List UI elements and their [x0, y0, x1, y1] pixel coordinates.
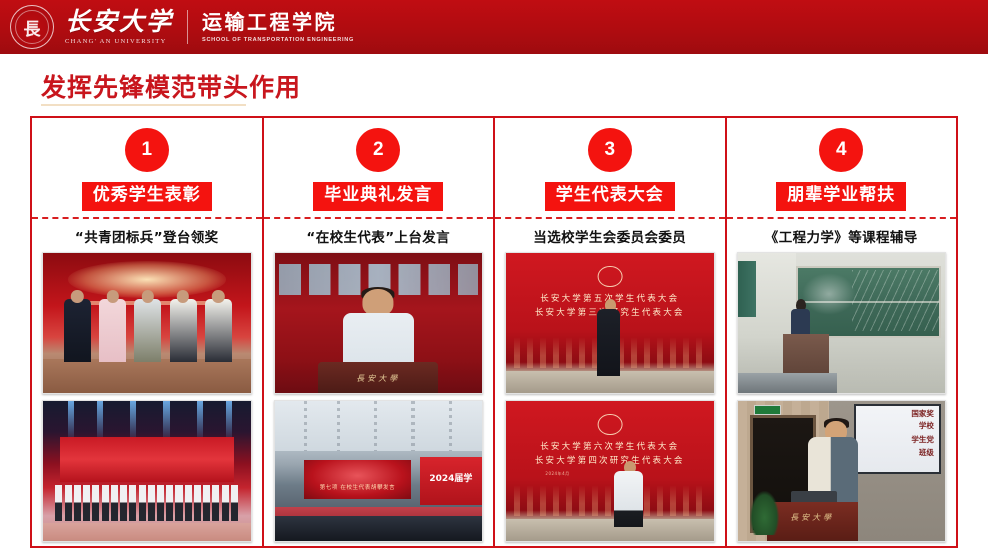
photo-main-screen: 第七项 在校生代表胡攀发言 [304, 460, 412, 499]
university-name-cn: 长安大学 [65, 9, 173, 35]
photo-person [99, 299, 126, 362]
photo-side-screen-text: 2024届学 [429, 471, 472, 484]
column-3-title-pill: 学生代表大会 [545, 182, 675, 211]
photo-group-row [55, 485, 238, 521]
photo-slide-line3: 学生党 [911, 434, 934, 445]
column-2-title-pill: 毕业典礼发言 [313, 182, 443, 211]
graduation-ceremony-photo[interactable]: 第七项 在校生代表胡攀发言 2024届学 [274, 400, 484, 542]
column-1-number-badge: 1 [125, 128, 169, 172]
photo-screen-text: 第七项 在校生代表胡攀发言 [320, 483, 396, 491]
photo-projection-slide: 国家奖 学校 学生党 班级 [854, 404, 941, 474]
photo-floor [43, 523, 251, 541]
university-name-block: 长安大学 CHANG' AN UNIVERSITY [65, 9, 173, 45]
photo-banner-line1: 长安大学第六次学生代表大会 [523, 440, 697, 452]
column-1-caption: “共青团标兵”登台领奖 [32, 219, 262, 252]
column-4-number-badge: 4 [819, 128, 863, 172]
column-2-caption: “在校生代表”上台发言 [264, 219, 494, 252]
college-name-block: 运输工程学院 SCHOOL OF TRANSPORTATION ENGINEER… [202, 11, 354, 43]
photo-lectern [783, 334, 829, 379]
title-underline [41, 104, 246, 106]
awards-ceremony-photo[interactable] [42, 252, 252, 394]
column-4-title-pill: 朋辈学业帮扶 [776, 182, 906, 211]
column-3-photos: 长安大学第五次学生代表大会 长安大学第三次研究生代表大会 长安大学第六次学生代表… [495, 252, 725, 546]
podium-speech-photo[interactable]: 長安大學 [274, 252, 484, 394]
photo-led-screen [60, 437, 234, 482]
photo-banner-date: 2024年4月 [545, 471, 569, 477]
content-frame: 1 优秀学生表彰 “共青团标兵”登台领奖 [30, 116, 958, 548]
college-name-cn: 运输工程学院 [202, 11, 354, 33]
photo-podium: 長安大學 [318, 362, 438, 393]
column-4-head: 4 朋辈学业帮扶 [727, 118, 957, 217]
column-2[interactable]: 2 毕业典礼发言 “在校生代表”上台发言 長安大學 [262, 118, 494, 546]
page-title: 发挥先锋模范带头作用 [41, 68, 301, 104]
header-brand: 長 长安大学 CHANG' AN UNIVERSITY 运输工程学院 SCHOO… [0, 5, 354, 49]
university-crest-icon: 長 [10, 5, 54, 49]
stage-group-photo[interactable] [42, 400, 252, 542]
photo-person [205, 299, 232, 362]
photo-floor [43, 359, 251, 393]
column-1[interactable]: 1 优秀学生表彰 “共青团标兵”登台领奖 [32, 118, 262, 546]
exit-sign-icon [754, 405, 781, 415]
photo-side-screen: 2024届学 [420, 457, 482, 505]
column-4-photos: 国家奖 学校 学生党 班级 長安大學 [727, 252, 957, 546]
column-2-head: 2 毕业典礼发言 [264, 118, 494, 217]
column-3-caption: 当选校学生会委员会委员 [495, 219, 725, 252]
column-1-head: 1 优秀学生表彰 [32, 118, 262, 217]
column-4[interactable]: 4 朋辈学业帮扶 《工程力学》等课程辅导 [725, 118, 957, 546]
classroom-tutoring-photo[interactable] [737, 252, 947, 394]
fifth-student-congress-photo[interactable]: 长安大学第五次学生代表大会 长安大学第三次研究生代表大会 [505, 252, 715, 394]
photo-slide-line4: 班级 [919, 447, 934, 458]
column-4-caption: 《工程力学》等课程辅导 [727, 219, 957, 252]
column-3-head: 3 学生代表大会 [495, 118, 725, 217]
photo-person [170, 299, 197, 362]
photo-slide-line1: 国家奖 [911, 408, 934, 419]
student-presentation-photo[interactable]: 国家奖 学校 学生党 班级 長安大學 [737, 400, 947, 542]
column-3[interactable]: 3 学生代表大会 当选校学生会委员会委员 长安大学第五次学生代表大会 长安大学第… [493, 118, 725, 546]
university-name-en: CHANG' AN UNIVERSITY [65, 38, 173, 45]
college-name-en: SCHOOL OF TRANSPORTATION ENGINEERING [202, 37, 354, 43]
column-1-title-pill: 优秀学生表彰 [82, 182, 212, 211]
column-1-photos [32, 252, 262, 546]
photo-person [64, 299, 91, 362]
header-divider [187, 10, 188, 44]
photo-university-emblem-icon [597, 266, 622, 288]
photo-podium-text: 長安大學 [790, 512, 834, 523]
photo-person [134, 299, 161, 362]
crest-glyph: 長 [11, 6, 53, 48]
photo-slide-line2: 学校 [919, 420, 934, 431]
column-3-number-badge: 3 [588, 128, 632, 172]
photo-university-emblem-icon [597, 414, 622, 436]
photo-podium: 長安大學 [767, 502, 858, 541]
photo-banner-line2: 长安大学第四次研究生代表大会 [523, 454, 697, 466]
photo-podium-text: 長安大學 [356, 373, 400, 384]
column-2-photos: 長安大學 第七项 在校生代表胡攀发言 2024届学 [264, 252, 494, 546]
site-header: 長 长安大学 CHANG' AN UNIVERSITY 运输工程学院 SCHOO… [0, 0, 988, 54]
sixth-student-congress-photo[interactable]: 长安大学第六次学生代表大会 长安大学第四次研究生代表大会 2024年4月 [505, 400, 715, 542]
column-2-number-badge: 2 [356, 128, 400, 172]
